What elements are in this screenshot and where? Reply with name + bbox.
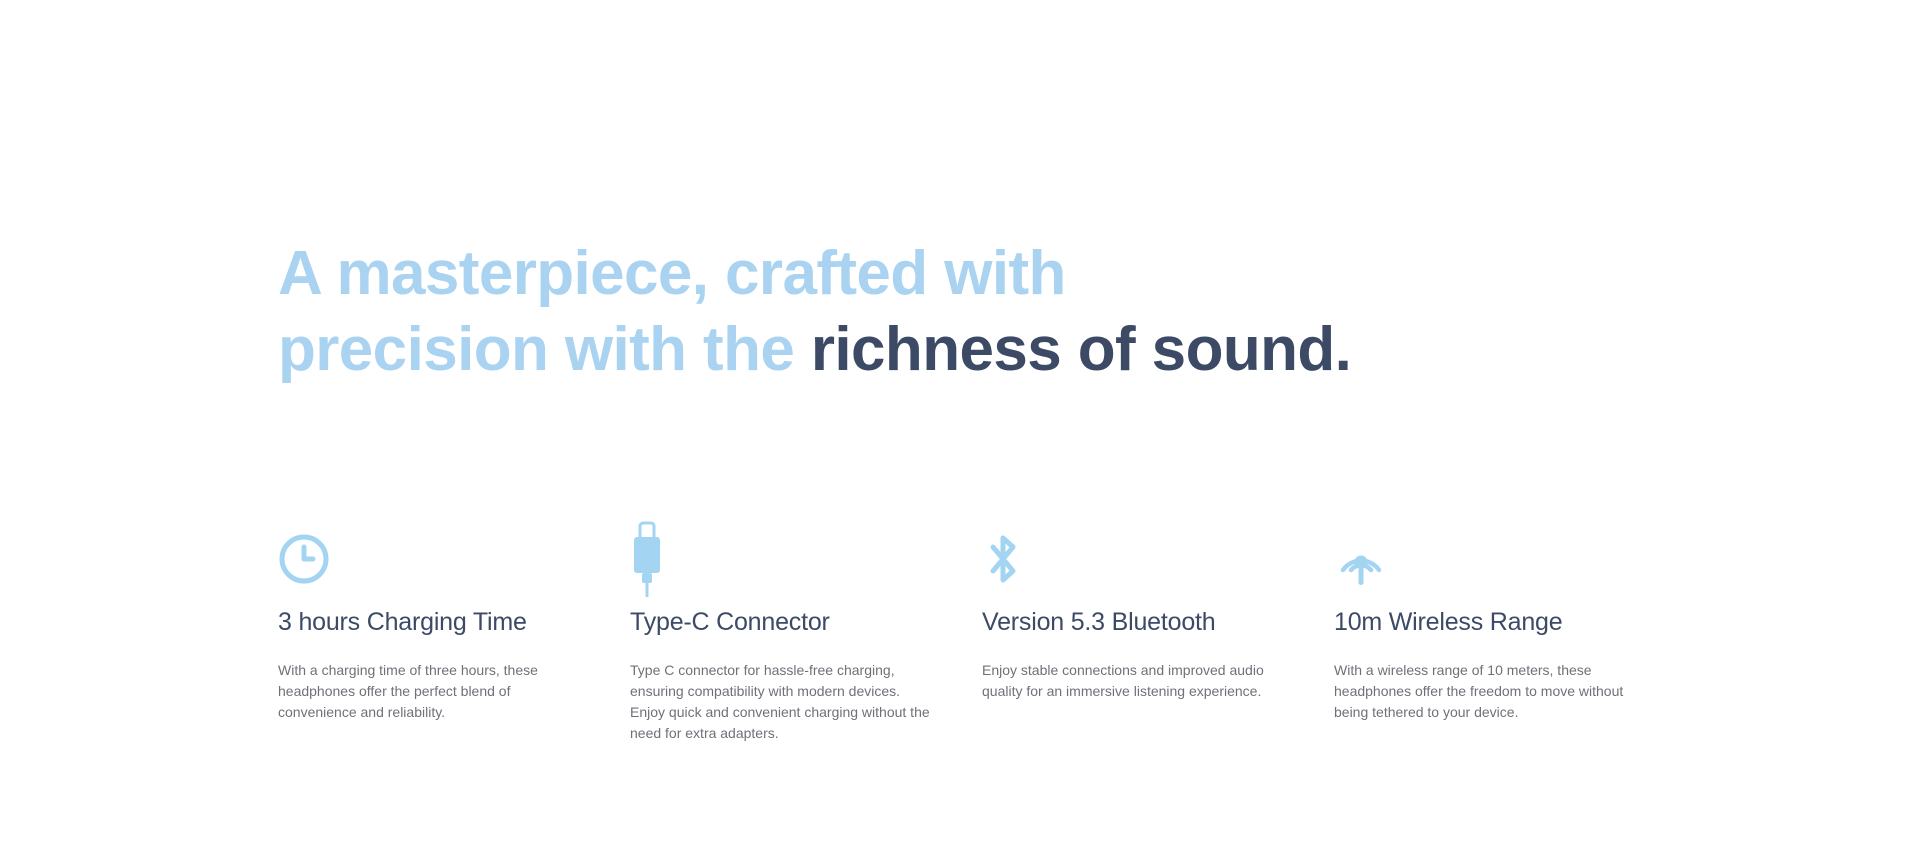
- section-headline: A masterpiece, crafted with precision wi…: [278, 236, 1578, 388]
- headline-line-2-light: precision with the: [278, 315, 811, 384]
- feature-card-charging-time: 3 hours Charging Time With a charging ti…: [278, 520, 580, 723]
- usb-c-connector-icon: [630, 520, 664, 598]
- feature-description: Enjoy stable connections and improved au…: [982, 660, 1282, 702]
- bluetooth-icon: [982, 520, 1024, 598]
- feature-description: Type C connector for hassle-free chargin…: [630, 660, 930, 744]
- feature-title: 3 hours Charging Time: [278, 606, 527, 638]
- feature-title: 10m Wireless Range: [1334, 606, 1562, 638]
- feature-title: Type-C Connector: [630, 606, 830, 638]
- feature-description: With a wireless range of 10 meters, thes…: [1334, 660, 1634, 723]
- headline-line-1: A masterpiece, crafted with: [278, 239, 1066, 308]
- feature-card-bluetooth: Version 5.3 Bluetooth Enjoy stable conne…: [982, 520, 1284, 702]
- feature-description: With a charging time of three hours, the…: [278, 660, 578, 723]
- feature-card-type-c-connector: Type-C Connector Type C connector for ha…: [630, 520, 932, 744]
- clock-icon: [278, 520, 330, 598]
- feature-list: 3 hours Charging Time With a charging ti…: [278, 520, 1698, 744]
- feature-title: Version 5.3 Bluetooth: [982, 606, 1215, 638]
- headline-line-2-accent: richness of sound.: [811, 315, 1351, 384]
- wireless-broadcast-icon: [1334, 520, 1388, 598]
- product-features-section: A masterpiece, crafted with precision wi…: [0, 0, 1920, 865]
- feature-card-wireless-range: 10m Wireless Range With a wireless range…: [1334, 520, 1636, 723]
